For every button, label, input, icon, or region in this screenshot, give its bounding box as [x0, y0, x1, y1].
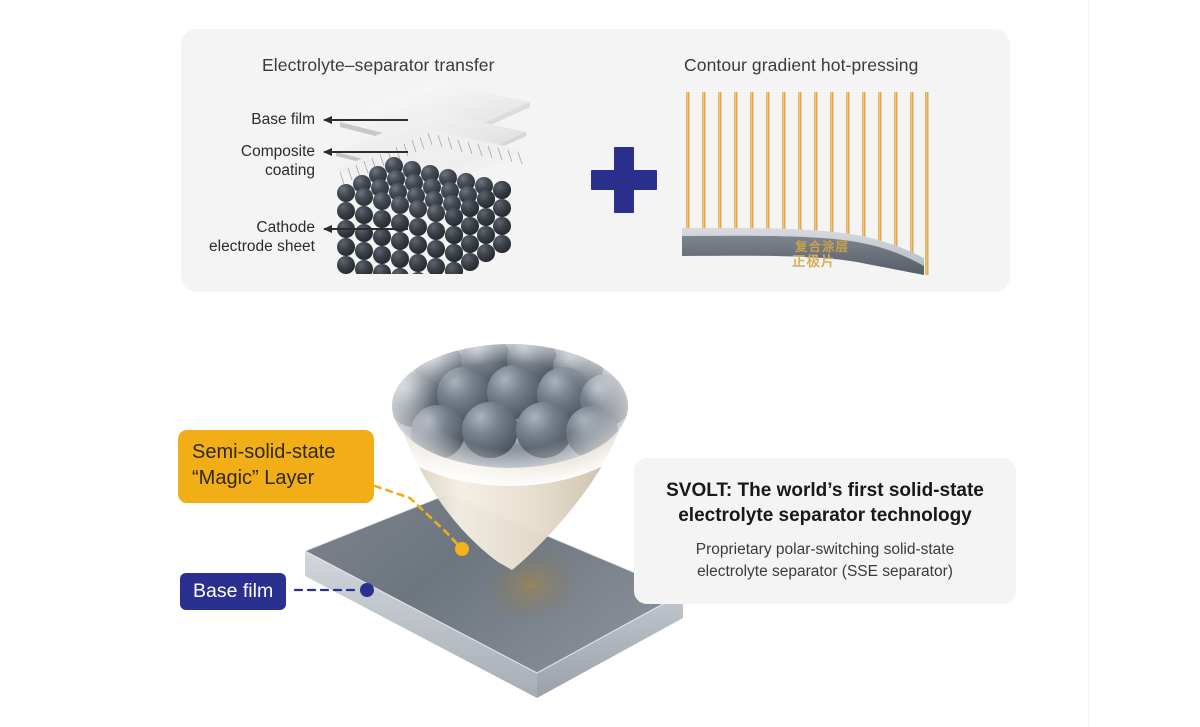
- label-composite-coating: Composite coating: [150, 142, 315, 181]
- label-cathode-electrode-sheet: Cathode electrode sheet: [130, 218, 315, 257]
- right-panel-title: Contour gradient hot-pressing: [684, 55, 918, 76]
- leader-dot-magic: [455, 542, 469, 556]
- arrow-cathode-electrode-sheet: [324, 228, 408, 230]
- badge-base-film[interactable]: Base film: [180, 573, 286, 610]
- arrow-composite-coating: [324, 151, 408, 153]
- leader-line-magic: [375, 486, 460, 547]
- info-card-title: SVOLT: The world’s first solid-state ele…: [656, 478, 994, 528]
- left-panel-title: Electrolyte–separator transfer: [262, 55, 495, 76]
- diagram-canvas: Electrolyte–separator transfer Contour g…: [0, 0, 1200, 727]
- badge-magic-layer[interactable]: Semi-solid-state “Magic” Layer: [178, 430, 374, 503]
- exploded-film-stack-illustration: [330, 74, 580, 274]
- right-edge-rule: [1088, 0, 1090, 727]
- info-card-subtitle: Proprietary polar-switching solid-state …: [656, 539, 994, 582]
- leader-dot-basefilm: [360, 583, 374, 597]
- arrow-base-film: [324, 119, 408, 121]
- caption-cathode-sheet-cn: 正极片: [792, 250, 836, 270]
- svolt-info-card: SVOLT: The world’s first solid-state ele…: [634, 458, 1016, 604]
- plus-operator-icon: [591, 147, 657, 213]
- label-base-film: Base film: [150, 110, 315, 129]
